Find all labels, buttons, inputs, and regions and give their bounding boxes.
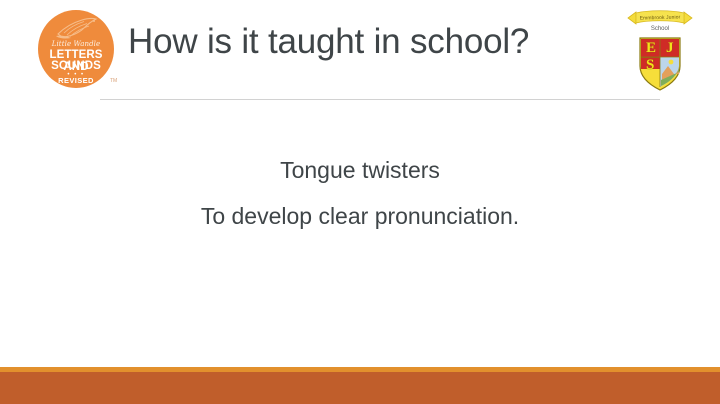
logo-sounds-line: SOUNDS xyxy=(38,60,114,72)
slide-body-text: Tongue twisters To develop clear pronunc… xyxy=(60,147,660,239)
wren-bird-icon xyxy=(54,15,100,41)
crest-subtitle: School xyxy=(618,26,702,32)
trademark-mark: TM xyxy=(110,78,117,84)
title-divider-rule xyxy=(100,99,660,100)
body-line-2: To develop clear pronunciation. xyxy=(60,193,660,239)
crest-letter-e: E xyxy=(646,40,656,57)
crest-letter-s: S xyxy=(646,57,654,74)
body-line-1: Tongue twisters xyxy=(60,147,660,193)
slide-title: How is it taught in school? xyxy=(128,22,608,62)
footer-bar xyxy=(0,372,720,404)
crest-letter-j: J xyxy=(666,40,674,57)
slide-canvas: Little Wandle LETTERS AND SOUNDS • • • R… xyxy=(0,0,720,404)
logo-revised-label: REVISED xyxy=(38,76,114,85)
school-crest-logo: Emmbrook Junior School E J S xyxy=(618,4,702,96)
little-wandle-logo: Little Wandle LETTERS AND SOUNDS • • • R… xyxy=(38,10,114,88)
logo-script-text: Little Wandle xyxy=(38,40,114,48)
